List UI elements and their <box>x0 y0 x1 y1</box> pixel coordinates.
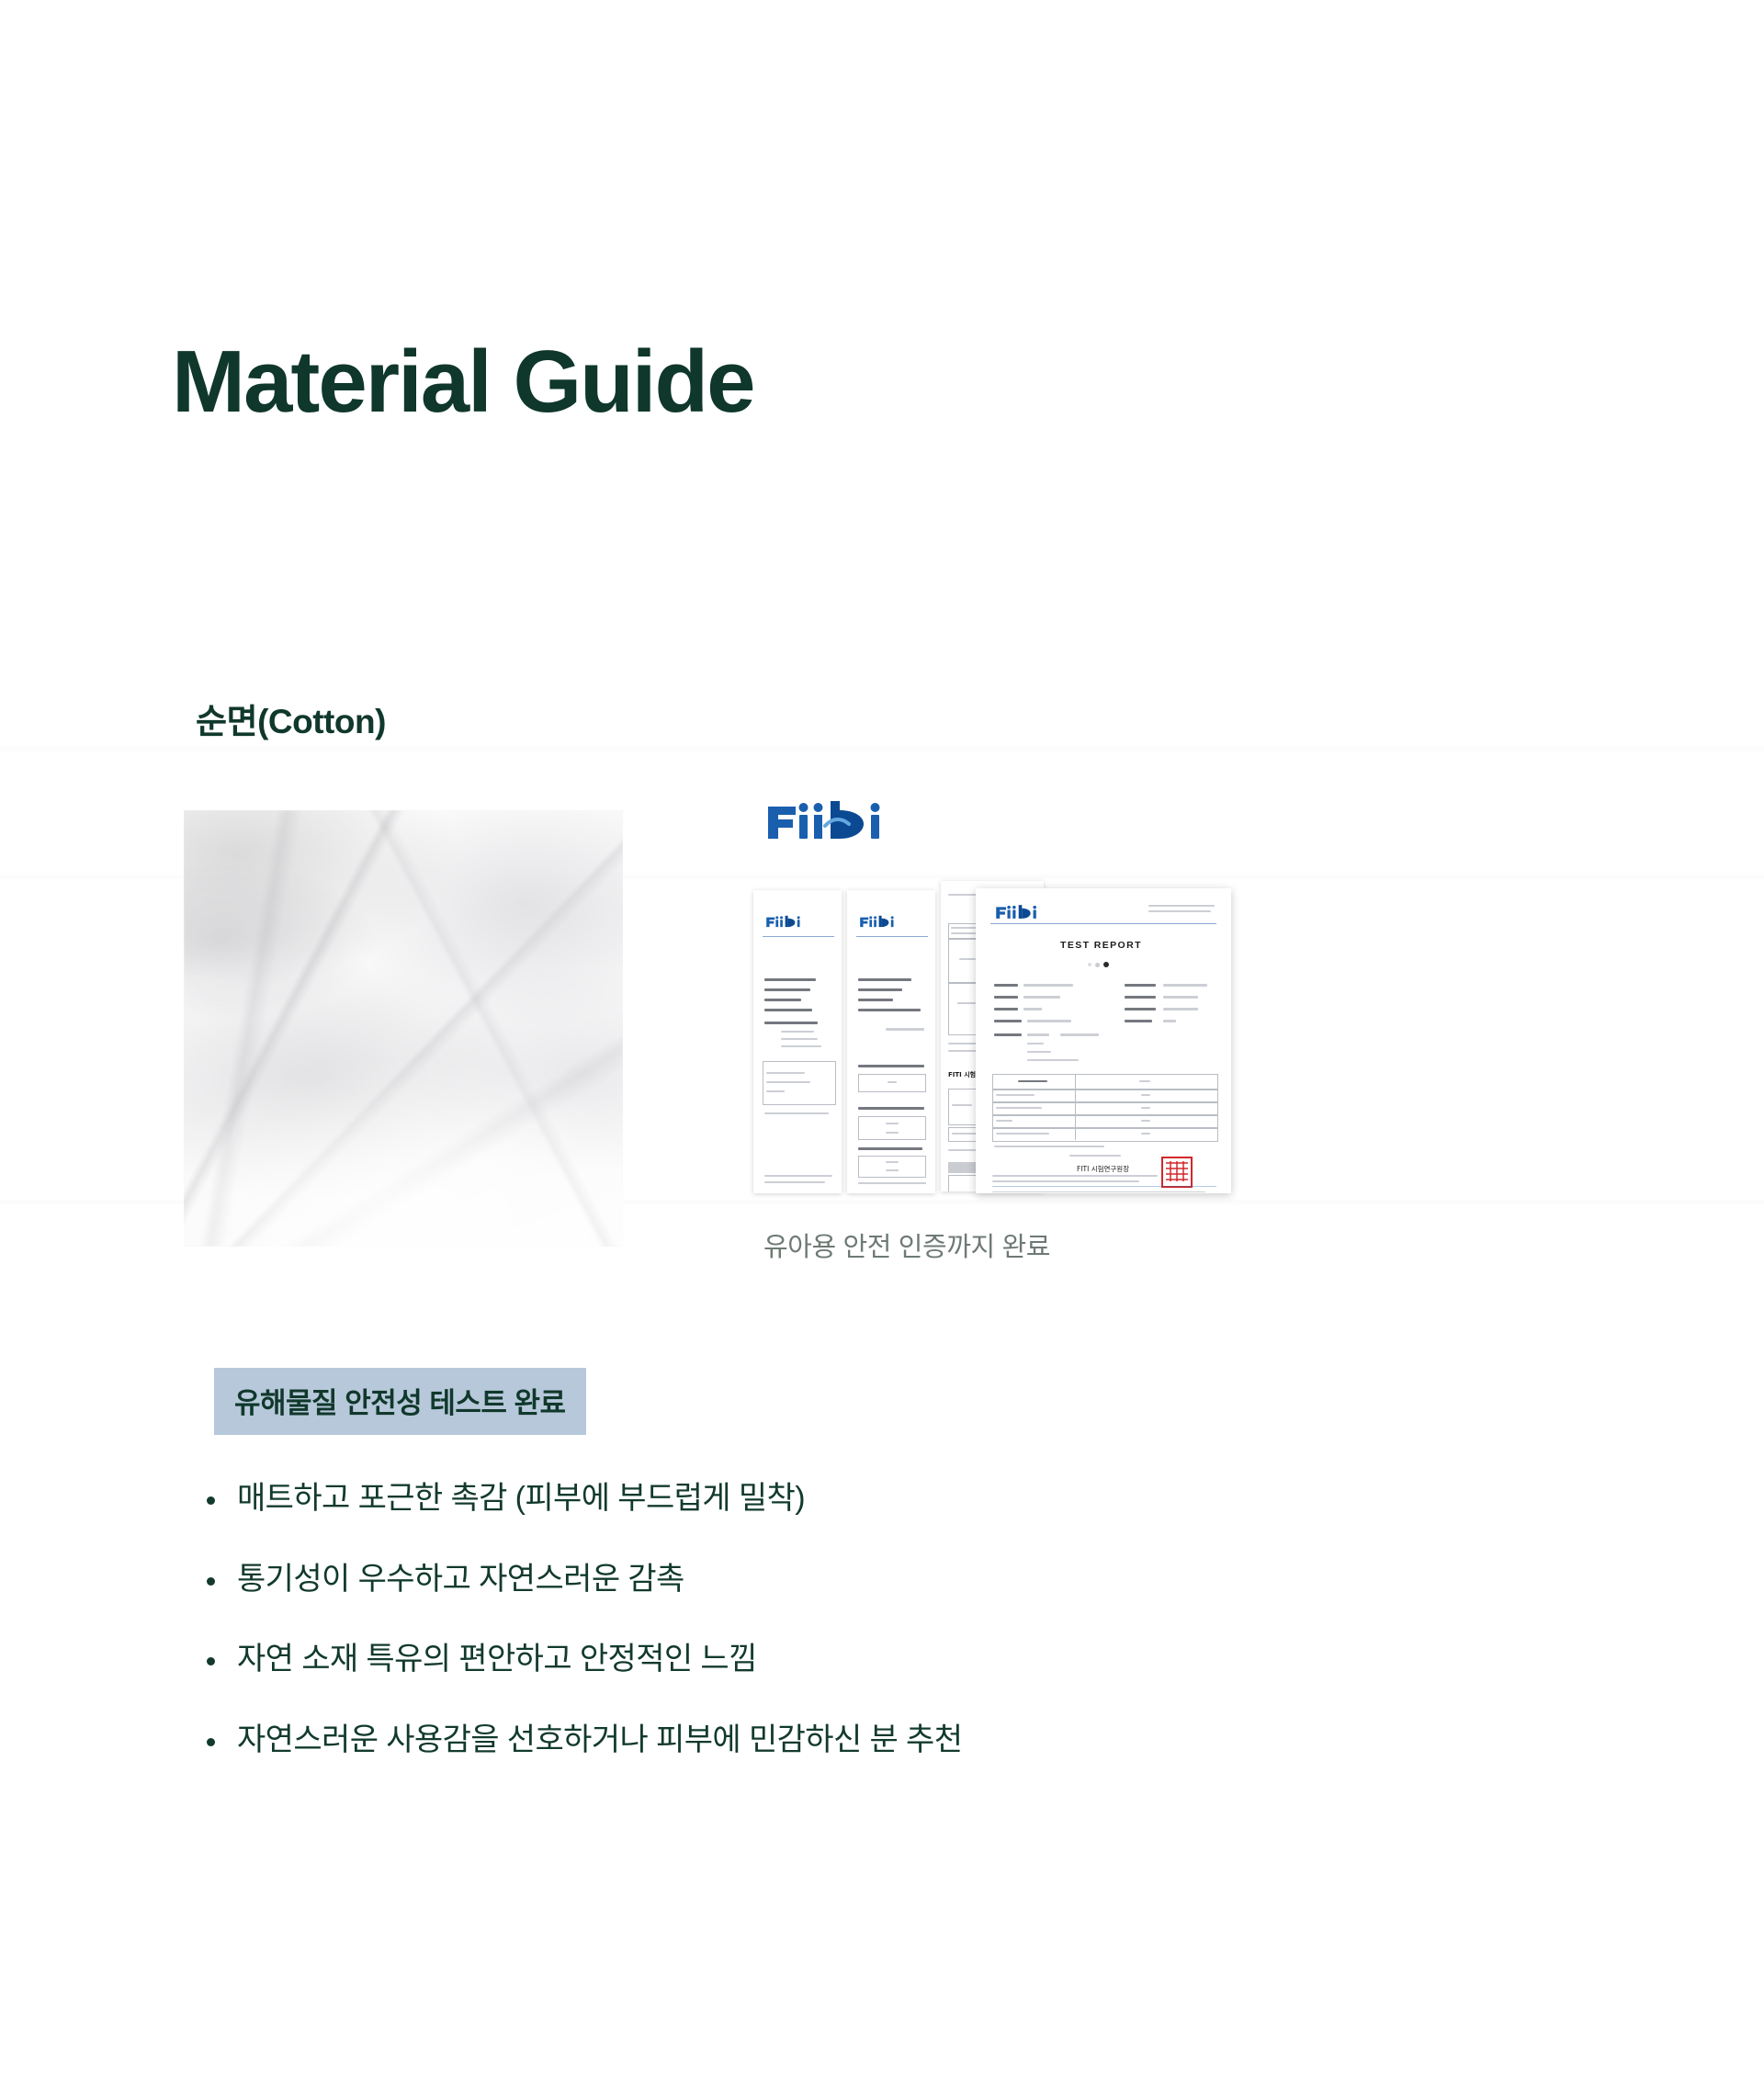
doc-test-report-page-1 <box>753 890 842 1193</box>
list-item: 통기성이 우수하고 자연스러운 감촉 <box>207 1560 1585 1599</box>
list-item-label: 통기성이 우수하고 자연스러운 감촉 <box>237 1560 684 1599</box>
material-guide-page: Material Guide 순면(Cotton) <box>0 0 1764 2100</box>
certificate-document-stack: FITI 시험연구원장 <box>753 877 1231 1203</box>
list-item: 매트하고 포근한 촉감 (피부에 부드럽게 밀착) <box>207 1479 1585 1519</box>
scan-band <box>0 746 1764 751</box>
fiti-logo-icon <box>764 914 805 932</box>
list-item: 자연 소재 특유의 편안하고 안정적인 느낌 <box>207 1640 1585 1679</box>
page-title: Material Guide <box>172 338 754 426</box>
doc-test-report-main: TEST REPORT <box>976 888 1231 1193</box>
certification-caption: 유아용 안전 인증까지 완료 <box>763 1225 1050 1264</box>
section-heading-cotton: 순면(Cotton) <box>196 694 386 743</box>
report-title: TEST REPORT <box>1060 940 1142 951</box>
fiti-logo-icon <box>994 903 1042 924</box>
bullet-dot-icon <box>207 1738 215 1746</box>
bullet-dot-icon <box>207 1657 215 1665</box>
feature-list: 매트하고 포근한 촉감 (피부에 부드럽게 밀착) 통기성이 우수하고 자연스러… <box>207 1479 1585 1801</box>
bullet-dot-icon <box>207 1577 215 1586</box>
list-item: 자연스러운 사용감을 선호하거나 피부에 민감하신 분 추천 <box>207 1721 1585 1760</box>
bullet-dot-icon <box>207 1496 215 1505</box>
report-signature: FITI 시험연구원장 <box>1077 1164 1129 1174</box>
fabric-texture-image <box>184 810 623 1247</box>
fiti-logo-icon <box>766 796 891 841</box>
fiti-logo-icon <box>858 914 899 932</box>
list-item-label: 자연 소재 특유의 편안하고 안정적인 느낌 <box>237 1640 757 1679</box>
fabric-layer-highlight <box>184 810 623 1247</box>
list-item-label: 자연스러운 사용감을 선호하거나 피부에 민감하신 분 추천 <box>237 1721 962 1760</box>
doc-test-report-page-2 <box>847 890 935 1193</box>
safety-test-badge: 유해물질 안전성 테스트 완료 <box>214 1368 586 1435</box>
official-seal-stamp <box>1161 1157 1193 1188</box>
list-item-label: 매트하고 포근한 촉감 (피부에 부드럽게 밀착) <box>237 1479 805 1519</box>
report-grade-dots <box>1088 962 1109 967</box>
